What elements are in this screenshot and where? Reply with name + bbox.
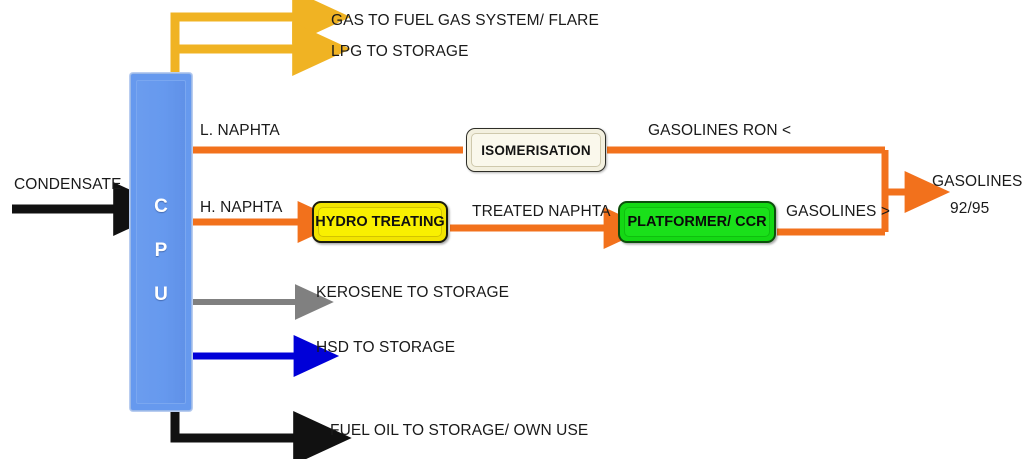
cpu-letter-u: U (154, 284, 168, 306)
unit-platformer-ccr[interactable]: PLATFORMER/ CCR (618, 201, 776, 243)
stream-label-gas: GAS TO FUEL GAS SYSTEM/ FLARE (331, 12, 599, 30)
platformer-label: PLATFORMER/ CCR (627, 214, 766, 230)
unit-cpu-column[interactable]: C P U (130, 73, 192, 411)
stream-label-lpg: LPG TO STORAGE (331, 43, 469, 61)
unit-hydro-treating[interactable]: HYDRO TREATING (312, 201, 448, 243)
process-flow-diagram: C P U ISOMERISATION HYDRO TREATING PLATF… (0, 0, 1024, 459)
hydro-treating-label: HYDRO TREATING (315, 214, 444, 230)
cpu-label: C P U (131, 196, 191, 306)
stream-label-gasolines-ron-high: GASOLINES > (786, 203, 890, 221)
unit-isomerisation[interactable]: ISOMERISATION (466, 128, 606, 172)
stream-label-product-gasolines-line1: GASOLINES (932, 173, 1023, 191)
stream-label-fuel-oil: FUEL OIL TO STORAGE/ OWN USE (330, 422, 588, 440)
stream-label-heavy-naphtha: H. NAPHTA (200, 199, 282, 217)
stream-line-fuel-oil (175, 406, 304, 438)
stream-label-light-naphtha: L. NAPHTA (200, 122, 280, 140)
stream-label-gasolines-ron-low: GASOLINES RON < (648, 122, 791, 140)
cpu-letter-c: C (154, 196, 168, 218)
isomerisation-label: ISOMERISATION (481, 143, 591, 158)
stream-label-condensate: CONDENSATE (14, 176, 122, 194)
stream-label-kerosene: KEROSENE TO STORAGE (316, 284, 509, 302)
stream-label-product-gasolines-line2: 92/95 (950, 200, 989, 218)
stream-label-treated-naphtha: TREATED NAPHTA (472, 203, 611, 221)
stream-line-gas (175, 17, 303, 49)
cpu-letter-p: P (155, 240, 168, 262)
stream-label-hsd: HSD TO STORAGE (316, 339, 455, 357)
